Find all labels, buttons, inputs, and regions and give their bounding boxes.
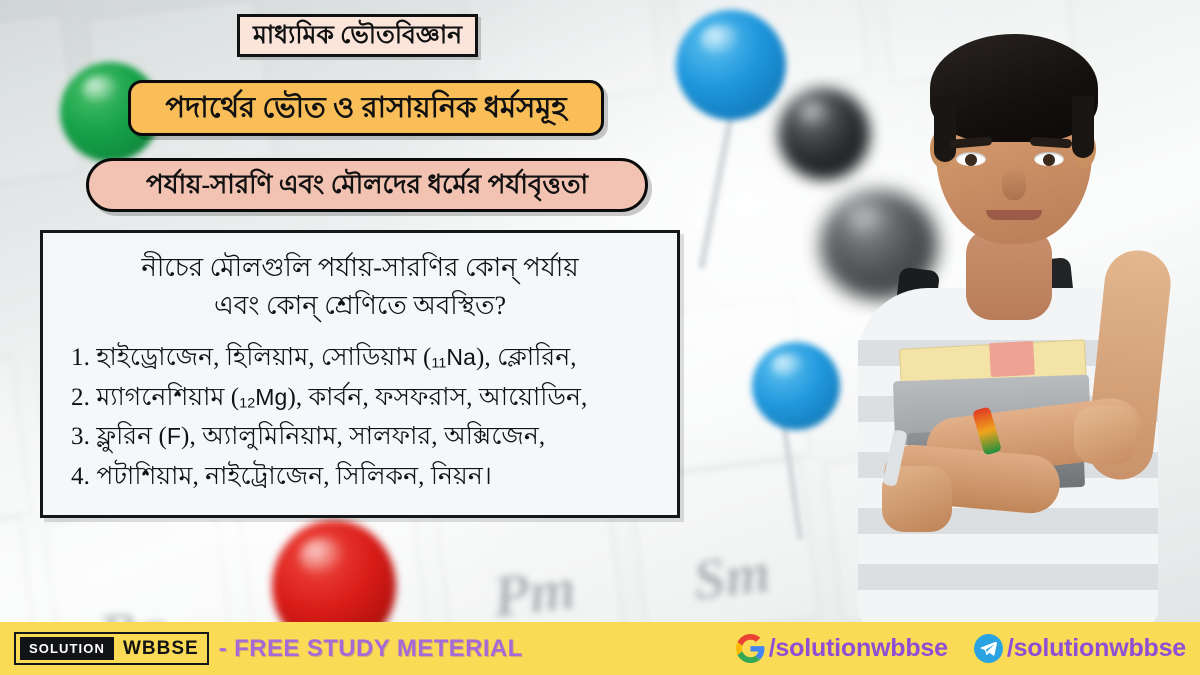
- element-symbol: Mg: [255, 384, 287, 410]
- footer-bar: SOLUTION WBBSE - FREE STUDY METERIAL /so…: [0, 622, 1200, 675]
- poster-canvas: Th Pa Nd Pm Sm Np U Ce মাধ্যমিক ভৌতবিজ্ঞ…: [0, 0, 1200, 675]
- student-mouth: [986, 210, 1042, 220]
- atomic-number: 12: [239, 395, 255, 411]
- question-prompt: নীচের মৌলগুলি পর্যায়-সারণির কোন্ পর্যায…: [61, 249, 659, 324]
- student-pupil: [1043, 154, 1055, 166]
- item-text-after: ), ক্লোরিন,: [476, 344, 577, 371]
- student-hair-side: [934, 96, 956, 162]
- student-nose: [1002, 166, 1026, 200]
- brand-logo-solution: SOLUTION: [20, 637, 114, 660]
- chapter-banner: পদার্থের ভৌত ও রাসায়নিক ধর্মসমূহ: [128, 80, 604, 136]
- telegram-handle: /solutionwbbse: [1007, 634, 1186, 663]
- brand-logo-wbbse: WBBSE: [123, 638, 199, 660]
- subject-banner: মাধ্যমিক ভৌতবিজ্ঞান: [237, 14, 478, 57]
- shirt-stripe: [858, 564, 1158, 590]
- item-text-after: ), কার্বন, ফসফরাস, আয়োডিন,: [287, 384, 587, 411]
- brand-logo[interactable]: SOLUTION WBBSE: [14, 632, 209, 665]
- item-text-before: হাইড্রোজেন, হিলিয়াম, সোডিয়াম (: [96, 344, 431, 371]
- item-symbol: F: [167, 423, 181, 449]
- item-number: 1.: [71, 344, 90, 371]
- social-telegram[interactable]: /solutionwbbse: [974, 634, 1186, 663]
- item-number: 4.: [71, 463, 90, 490]
- student-photo: [838, 0, 1200, 626]
- question-prompt-line-1: নীচের মৌলগুলি পর্যায়-সারণির কোন্ পর্যায…: [141, 253, 578, 282]
- student-hair-side: [1072, 96, 1094, 158]
- list-item: 3. ফ্লুরিন (F), অ্যালুমিনিয়াম, সালফার, …: [71, 417, 659, 457]
- list-item: 1. হাইড্রোজেন, হিলিয়াম, সোডিয়াম (11Na)…: [71, 338, 659, 378]
- student-pupil: [965, 154, 977, 166]
- item-symbol: 12Mg: [239, 384, 287, 410]
- atomic-number: 11: [431, 356, 446, 372]
- google-icon: [736, 634, 765, 663]
- item-text-before: ম্যাগনেশিয়াম (: [96, 384, 239, 411]
- book-band: [989, 341, 1035, 377]
- list-item: 4. পটাশিয়াম, নাইট্রোজেন, সিলিকন, নিয়ন।: [71, 457, 659, 497]
- footer-tagline: - FREE STUDY METERIAL: [219, 635, 523, 663]
- item-number: 2.: [71, 384, 90, 411]
- element-symbol: Na: [446, 344, 476, 370]
- social-google[interactable]: /solutionwbbse: [736, 634, 948, 663]
- item-number: 3.: [71, 423, 90, 450]
- molecule-sphere-blue: [676, 10, 786, 120]
- student-hand: [1074, 406, 1136, 464]
- telegram-icon: [974, 634, 1003, 663]
- list-item: 2. ম্যাগনেশিয়াম (12Mg), কার্বন, ফসফরাস,…: [71, 378, 659, 418]
- question-prompt-line-2: এবং কোন্ শ্রেণিতে অবস্থিত?: [71, 287, 649, 325]
- topic-banner: পর্যায়-সারণি এবং মৌলদের ধর্মের পর্যাবৃত…: [86, 158, 648, 212]
- element-symbol: F: [167, 423, 181, 449]
- google-handle: /solutionwbbse: [769, 634, 948, 663]
- molecule-sphere-blue: [752, 342, 840, 430]
- item-text-before: পটাশিয়াম, নাইট্রোজেন, সিলিকন, নিয়ন।: [96, 463, 492, 490]
- element-list: 1. হাইড্রোজেন, হিলিয়াম, সোডিয়াম (11Na)…: [61, 338, 659, 496]
- question-card: নীচের মৌলগুলি পর্যায়-সারণির কোন্ পর্যায…: [40, 230, 680, 518]
- item-text-after: ), অ্যালুমিনিয়াম, সালফার, অক্সিজেন,: [181, 423, 545, 450]
- item-symbol: 11Na: [431, 344, 476, 370]
- item-text-before: ফ্লুরিন (: [96, 423, 167, 450]
- footer-socials: /solutionwbbse /solutionwbbse: [736, 634, 1186, 663]
